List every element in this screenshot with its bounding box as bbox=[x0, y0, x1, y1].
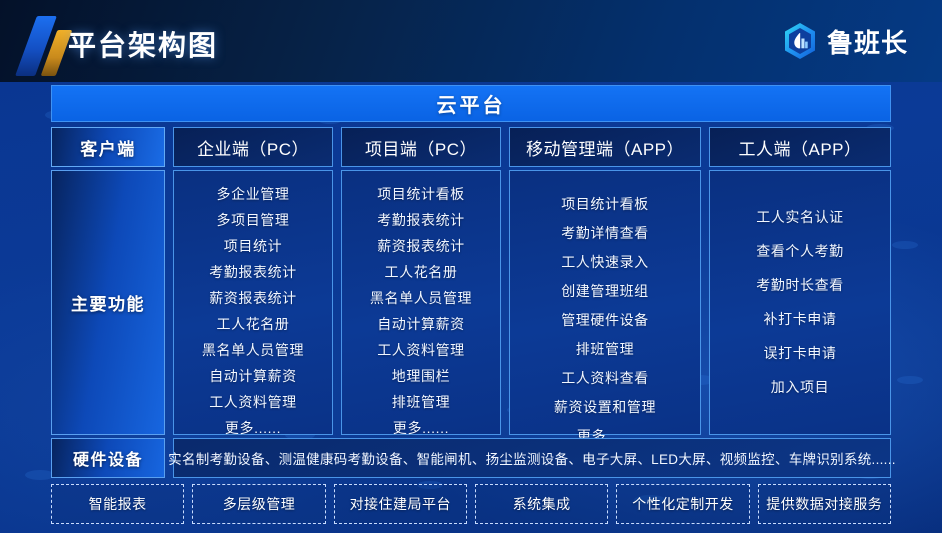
list-item: 工人资料查看 bbox=[561, 367, 649, 390]
hexagon-building-logo-icon bbox=[782, 22, 818, 60]
list-item: 创建管理班组 bbox=[561, 280, 649, 303]
list-item: 排班管理 bbox=[392, 391, 450, 414]
service-tag-gov-platform[interactable]: 对接住建局平台 bbox=[334, 484, 467, 524]
list-item-more[interactable]: 更多...... bbox=[393, 417, 449, 440]
list-item: 工人实名认证 bbox=[756, 206, 844, 229]
service-tag-data-interface[interactable]: 提供数据对接服务 bbox=[758, 484, 891, 524]
list-item: 误打卡申请 bbox=[764, 342, 837, 365]
list-item: 考勤报表统计 bbox=[209, 261, 297, 284]
function-list-mobile-admin-app: 项目统计看板 考勤详情查看 工人快速录入 创建管理班组 管理硬件设备 排班管理 … bbox=[509, 170, 701, 435]
row-label-hardware: 硬件设备 bbox=[51, 438, 165, 478]
hardware-device-list: 实名制考勤设备、测温健康码考勤设备、智能闸机、扬尘监测设备、电子大屏、LED大屏… bbox=[173, 438, 891, 478]
service-tag-smart-reports[interactable]: 智能报表 bbox=[51, 484, 184, 524]
list-item: 多企业管理 bbox=[217, 183, 290, 206]
list-item: 项目统计 bbox=[224, 235, 282, 258]
list-item: 薪资报表统计 bbox=[377, 235, 465, 258]
main-functions-row: 主要功能 多企业管理 多项目管理 项目统计 考勤报表统计 薪资报表统计 工人花名… bbox=[51, 170, 891, 435]
column-header-worker-app[interactable]: 工人端（APP） bbox=[709, 127, 891, 167]
list-item: 地理围栏 bbox=[392, 365, 450, 388]
list-item: 项目统计看板 bbox=[377, 183, 465, 206]
list-item: 黑名单人员管理 bbox=[370, 287, 472, 310]
list-item: 工人花名册 bbox=[385, 261, 458, 284]
column-header-enterprise-pc[interactable]: 企业端（PC） bbox=[173, 127, 333, 167]
list-item: 考勤报表统计 bbox=[377, 209, 465, 232]
page-title: 平台架构图 bbox=[68, 24, 218, 64]
service-tag-row: 智能报表 多层级管理 对接住建局平台 系统集成 个性化定制开发 提供数据对接服务 bbox=[51, 484, 891, 524]
list-item: 自动计算薪资 bbox=[377, 313, 465, 336]
list-item: 查看个人考勤 bbox=[756, 240, 844, 263]
list-item-more[interactable]: 更多...... bbox=[225, 417, 281, 440]
list-item: 补打卡申请 bbox=[764, 308, 837, 331]
list-item: 薪资报表统计 bbox=[209, 287, 297, 310]
list-item: 管理硬件设备 bbox=[561, 309, 649, 332]
column-header-project-pc[interactable]: 项目端（PC） bbox=[341, 127, 501, 167]
hardware-row: 硬件设备 实名制考勤设备、测温健康码考勤设备、智能闸机、扬尘监测设备、电子大屏、… bbox=[51, 438, 891, 478]
service-tag-system-integration[interactable]: 系统集成 bbox=[475, 484, 608, 524]
list-item: 工人资料管理 bbox=[209, 391, 297, 414]
brand-logo-group: 鲁班长 bbox=[782, 22, 908, 60]
list-item: 工人快速录入 bbox=[561, 251, 649, 274]
cloud-platform-bar: 云平台 bbox=[51, 85, 891, 122]
list-item: 考勤时长查看 bbox=[756, 274, 844, 297]
list-item: 薪资设置和管理 bbox=[554, 396, 656, 419]
function-list-worker-app: 工人实名认证 查看个人考勤 考勤时长查看 补打卡申请 误打卡申请 加入项目 bbox=[709, 170, 891, 435]
list-item: 黑名单人员管理 bbox=[202, 339, 304, 362]
function-list-enterprise-pc: 多企业管理 多项目管理 项目统计 考勤报表统计 薪资报表统计 工人花名册 黑名单… bbox=[173, 170, 333, 435]
row-label-main-functions: 主要功能 bbox=[51, 170, 165, 435]
service-tag-custom-development[interactable]: 个性化定制开发 bbox=[616, 484, 749, 524]
list-item: 考勤详情查看 bbox=[561, 222, 649, 245]
row-label-client: 客户端 bbox=[51, 127, 165, 167]
list-item: 多项目管理 bbox=[217, 209, 290, 232]
client-header-row: 客户端 企业端（PC） 项目端（PC） 移动管理端（APP） 工人端（APP） bbox=[51, 127, 891, 167]
service-tag-multi-level-mgmt[interactable]: 多层级管理 bbox=[192, 484, 325, 524]
page-header: 平台架构图 鲁班长 bbox=[0, 0, 942, 82]
list-item: 工人资料管理 bbox=[377, 339, 465, 362]
list-item: 加入项目 bbox=[771, 376, 829, 399]
architecture-diagram-page: 平台架构图 鲁班长 云平台 客户端 企业 bbox=[0, 0, 942, 533]
list-item: 排班管理 bbox=[576, 338, 634, 361]
function-list-project-pc: 项目统计看板 考勤报表统计 薪资报表统计 工人花名册 黑名单人员管理 自动计算薪… bbox=[341, 170, 501, 435]
list-item: 自动计算薪资 bbox=[209, 365, 297, 388]
column-header-mobile-admin-app[interactable]: 移动管理端（APP） bbox=[509, 127, 701, 167]
list-item: 工人花名册 bbox=[217, 313, 290, 336]
brand-name: 鲁班长 bbox=[827, 23, 908, 60]
list-item: 项目统计看板 bbox=[561, 193, 649, 216]
